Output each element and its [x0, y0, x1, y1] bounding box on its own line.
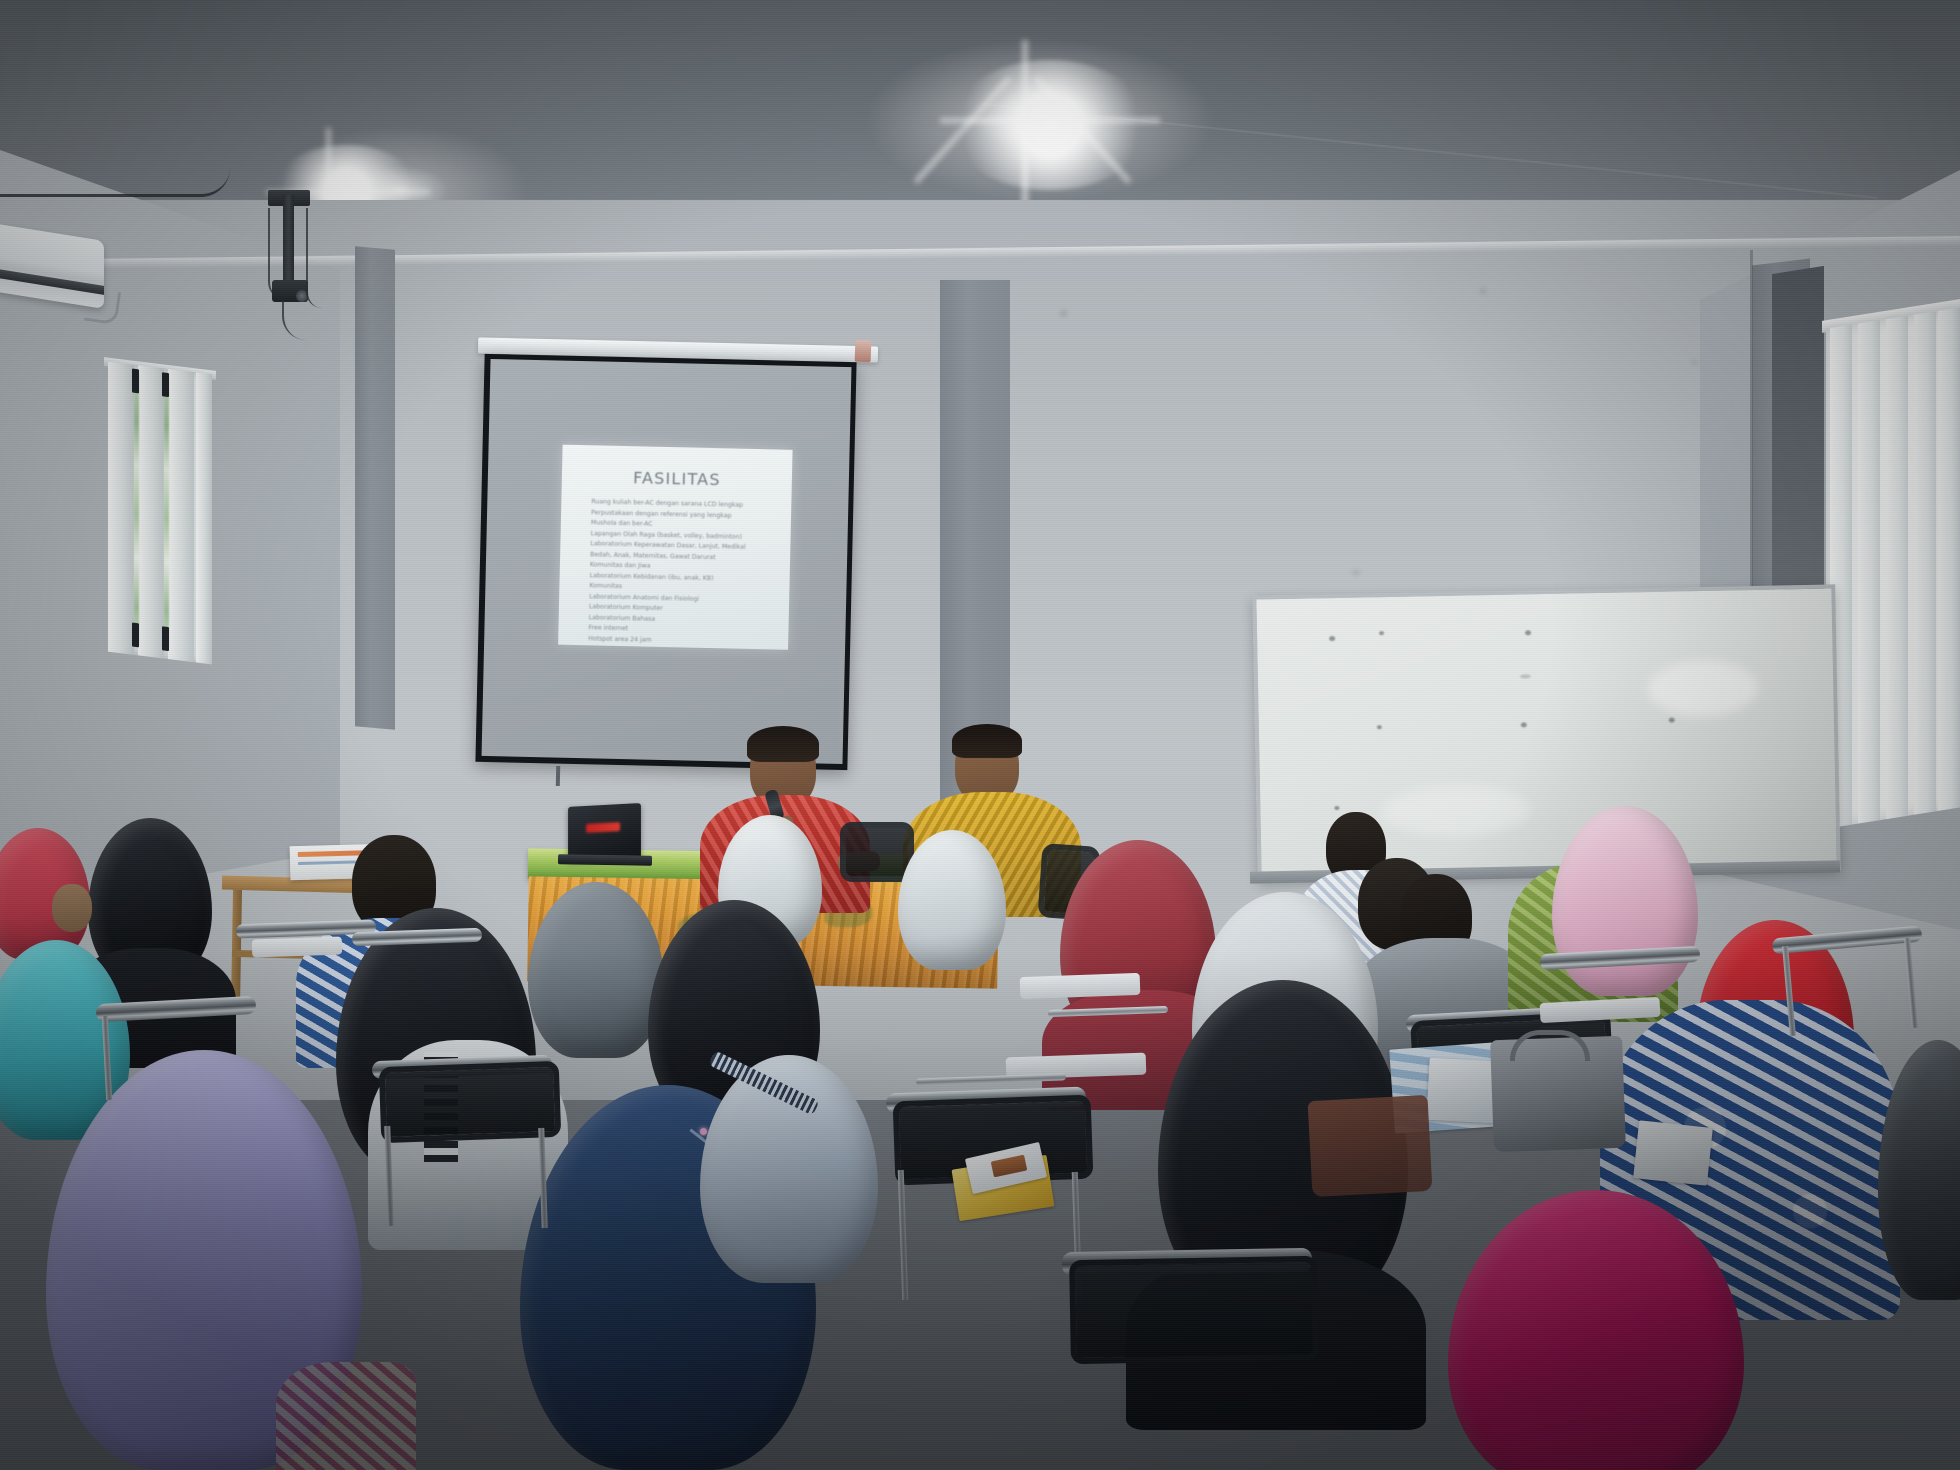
- wall-mark-2: [1480, 288, 1486, 294]
- laptop-logo-icon: [586, 822, 620, 833]
- chair-leg: [898, 1170, 909, 1300]
- blind-clip: [162, 626, 169, 651]
- projector-cable-a: [268, 208, 286, 300]
- blind-slat: [196, 372, 212, 664]
- chair-writing-tablet: [252, 936, 343, 957]
- window-right[interactable]: [1826, 307, 1960, 828]
- whiteboard-mark: [1329, 636, 1335, 641]
- blind-slat: [108, 362, 134, 655]
- seminar-room-photo: FASILITAS Ruang kuliah ber-AC dengan sar…: [0, 0, 1960, 1470]
- whiteboard-glare-2: [1380, 784, 1531, 837]
- blind-clip: [162, 372, 169, 397]
- right-wall-recess: [1772, 266, 1824, 604]
- laptop[interactable]: [568, 803, 641, 861]
- whiteboard-mark: [1669, 718, 1675, 723]
- window-left[interactable]: [108, 362, 212, 665]
- chair-back-panel[interactable]: [1069, 1256, 1319, 1364]
- blind-clip: [132, 369, 139, 394]
- wall-sensor: [855, 340, 872, 363]
- whiteboard-mark: [1521, 722, 1527, 727]
- hijab-pin-icon: [700, 1128, 707, 1135]
- projection-screen-surface: FASILITAS Ruang kuliah ber-AC dengan sar…: [482, 359, 852, 764]
- chair-back-panel[interactable]: [379, 1061, 562, 1143]
- speaker-hair: [952, 724, 1022, 758]
- whiteboard-mark: [1525, 630, 1531, 635]
- wall-mark-3: [1692, 360, 1697, 365]
- projected-slide: FASILITAS Ruang kuliah ber-AC dengan sar…: [558, 445, 792, 650]
- wall-mark-4: [1352, 570, 1360, 575]
- whiteboard-mark: [1377, 725, 1382, 729]
- pillar-left: [355, 246, 395, 729]
- slide-title: FASILITAS: [562, 467, 792, 491]
- whiteboard-glare: [1648, 660, 1759, 717]
- box-label-stripe-2: [298, 861, 356, 866]
- screen-pull-handle[interactable]: [556, 766, 560, 786]
- lamp-flare-v-right: [1022, 40, 1028, 210]
- notebook-white[interactable]: [1633, 1120, 1713, 1185]
- chair-writing-tablet: [1020, 973, 1141, 999]
- blind-slat: [138, 365, 164, 658]
- blind-slat: [1886, 316, 1908, 819]
- whiteboard-mark: [1334, 806, 1339, 810]
- presenter-chair-back[interactable]: [840, 822, 914, 882]
- whiteboard-mark: [1520, 674, 1531, 678]
- blind-daylight-gap: [164, 376, 169, 649]
- attendee-dress-pattern: [276, 1362, 416, 1470]
- wall-mark-1: [1060, 310, 1067, 317]
- blind-slat: [168, 369, 194, 662]
- speaker-hair: [747, 726, 819, 762]
- projector-cable-b: [306, 208, 322, 308]
- blind-slat: [1938, 307, 1960, 810]
- projection-screen: FASILITAS Ruang kuliah ber-AC dengan sar…: [475, 354, 856, 770]
- bag-brown[interactable]: [1308, 1095, 1433, 1197]
- ceiling-cable: [0, 168, 230, 197]
- blind-clip: [132, 623, 139, 648]
- whiteboard-mark: [1379, 631, 1384, 635]
- blind-slat: [1914, 311, 1936, 814]
- blind-daylight-gap: [134, 373, 139, 646]
- slide-bullet-list: Ruang kuliah ber-AC dengan sarana LCD le…: [588, 497, 781, 648]
- laptop-keyboard-base: [558, 854, 652, 866]
- blind-slat: [1858, 320, 1880, 823]
- attendee-face-behind: [52, 884, 92, 932]
